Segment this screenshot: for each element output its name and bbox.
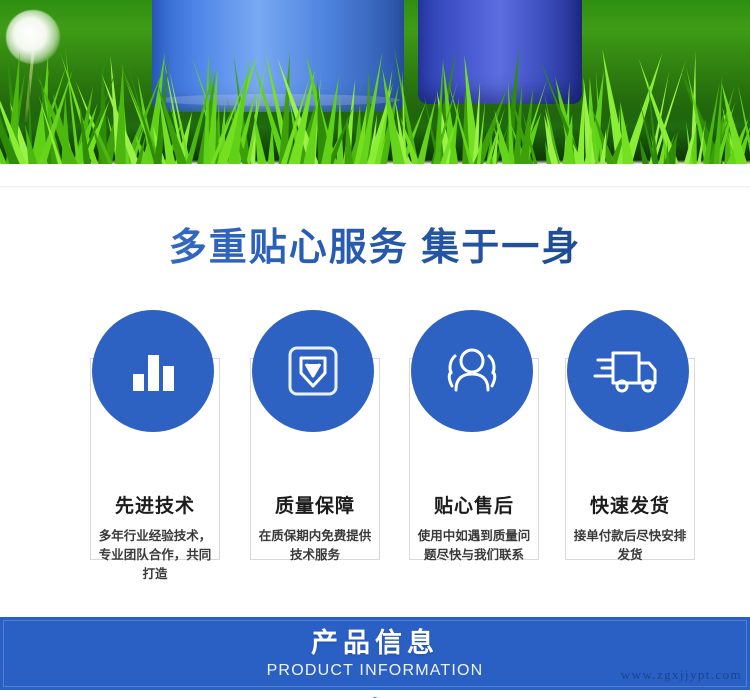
service-card-title: 快速发货 (566, 491, 694, 518)
delivery-truck-icon (567, 310, 689, 432)
people-group-icon (411, 310, 533, 432)
watermark-url: www.zgxjjypt.com (621, 667, 742, 683)
section-title: 多重贴心服务 集于一身 (0, 222, 750, 274)
page-bottom-spacer (0, 690, 750, 697)
service-card-title: 质量保障 (251, 491, 379, 518)
hero-banner-image (0, 0, 750, 164)
product-service-page: 多重贴心服务 集于一身 先进技术 多年行业经验技术，专业团队合作，共同打造 质量… (0, 0, 750, 697)
service-cards-row: 先进技术 多年行业经验技术，专业团队合作，共同打造 质量保障 在质保期内免费提供… (0, 310, 750, 570)
service-card-description: 使用中如遇到质量问题尽快与我们联系 (414, 527, 534, 565)
bar-chart-icon (92, 310, 214, 432)
product-information-banner: 产品信息 PRODUCT INFORMATION www.zgxjjypt.co… (0, 617, 750, 690)
hero-divider (0, 186, 750, 189)
service-card-description: 在质保期内免费提供技术服务 (255, 527, 375, 565)
banner-title-cn: 产品信息 (0, 627, 750, 659)
service-card-title: 贴心售后 (410, 491, 538, 518)
service-card-description: 接单付款后尽快安排发货 (570, 527, 690, 565)
grass-icon (0, 36, 750, 164)
shield-check-icon (252, 310, 374, 432)
service-card-title: 先进技术 (91, 491, 219, 518)
service-card-description: 多年行业经验技术，专业团队合作，共同打造 (95, 527, 215, 584)
